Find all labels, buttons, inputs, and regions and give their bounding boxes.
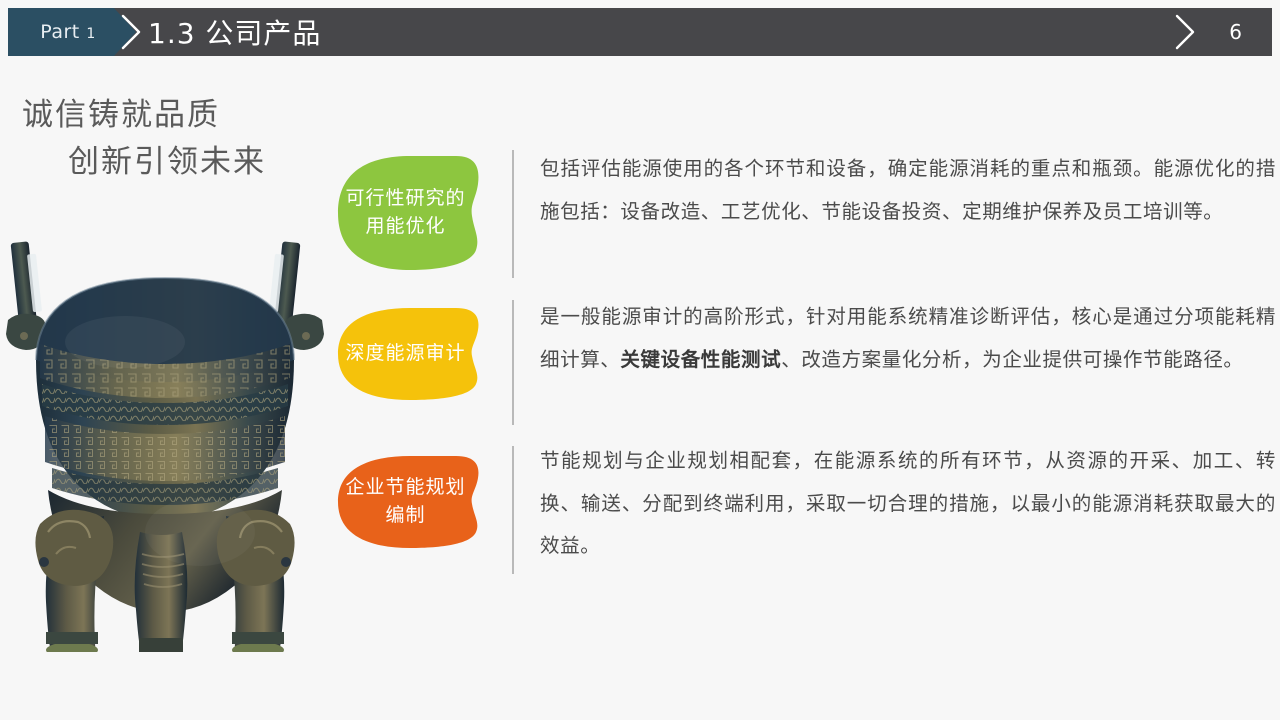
chevron-right-icon-left [120,14,142,50]
content-row-2: 深度能源审计 是一般能源审计的高阶形式，针对用能系统精准诊断评估，核心是通过分项… [330,296,1280,425]
page-number: 6 [1229,8,1242,56]
content-row-1: 可行性研究的用能优化 包括评估能源使用的各个环节和设备，确定能源消耗的重点和瓶颈… [330,148,1280,278]
part-tab-label: Part 1 [40,21,95,43]
slide-header-bar: Part 1 1.3 公司产品 6 [8,8,1272,56]
blob-wrap-3: 企业节能规划编制 [330,440,490,550]
part-tab[interactable]: Part 1 [8,8,136,56]
category-blob-energy-plan[interactable]: 企业节能规划编制 [330,454,485,550]
category-blob-feasibility[interactable]: 可行性研究的用能优化 [330,154,485,272]
category-blob-label-1: 可行性研究的用能优化 [344,185,467,240]
part-tab-label-number: 1 [86,26,95,42]
section-divider-2 [512,300,514,425]
blob-wrap-1: 可行性研究的用能优化 [330,148,490,272]
section-paragraph-1: 包括评估能源使用的各个环节和设备，确定能源消耗的重点和瓶颈。能源优化的措施包括：… [540,148,1280,233]
category-blob-energy-audit[interactable]: 深度能源审计 [330,306,485,402]
content-row-3: 企业节能规划编制 节能规划与企业规划相配套，在能源系统的所有环节，从资源的开采、… [330,440,1280,574]
chevron-right-icon-right [1174,14,1196,50]
bronze-ding-image [0,232,330,652]
blob-wrap-2: 深度能源审计 [330,296,490,402]
part-tab-label-prefix: Part [40,21,80,43]
category-blob-label-3: 企业节能规划编制 [344,474,467,529]
section-divider-1 [512,150,514,278]
slogan: 诚信铸就品质 创新引领未来 [22,92,342,185]
section-divider-3 [512,446,514,574]
slogan-line-2: 创新引领未来 [22,139,342,186]
section-paragraph-2: 是一般能源审计的高阶形式，针对用能系统精准诊断评估，核心是通过分项能耗精细计算、… [540,296,1280,381]
category-blob-label-2: 深度能源审计 [345,340,465,368]
slogan-line-1: 诚信铸就品质 [22,92,342,139]
page-title: 1.3 公司产品 [148,8,321,56]
section-paragraph-3: 节能规划与企业规划相配套，在能源系统的所有环节，从资源的开采、加工、转换、输送、… [540,440,1280,568]
